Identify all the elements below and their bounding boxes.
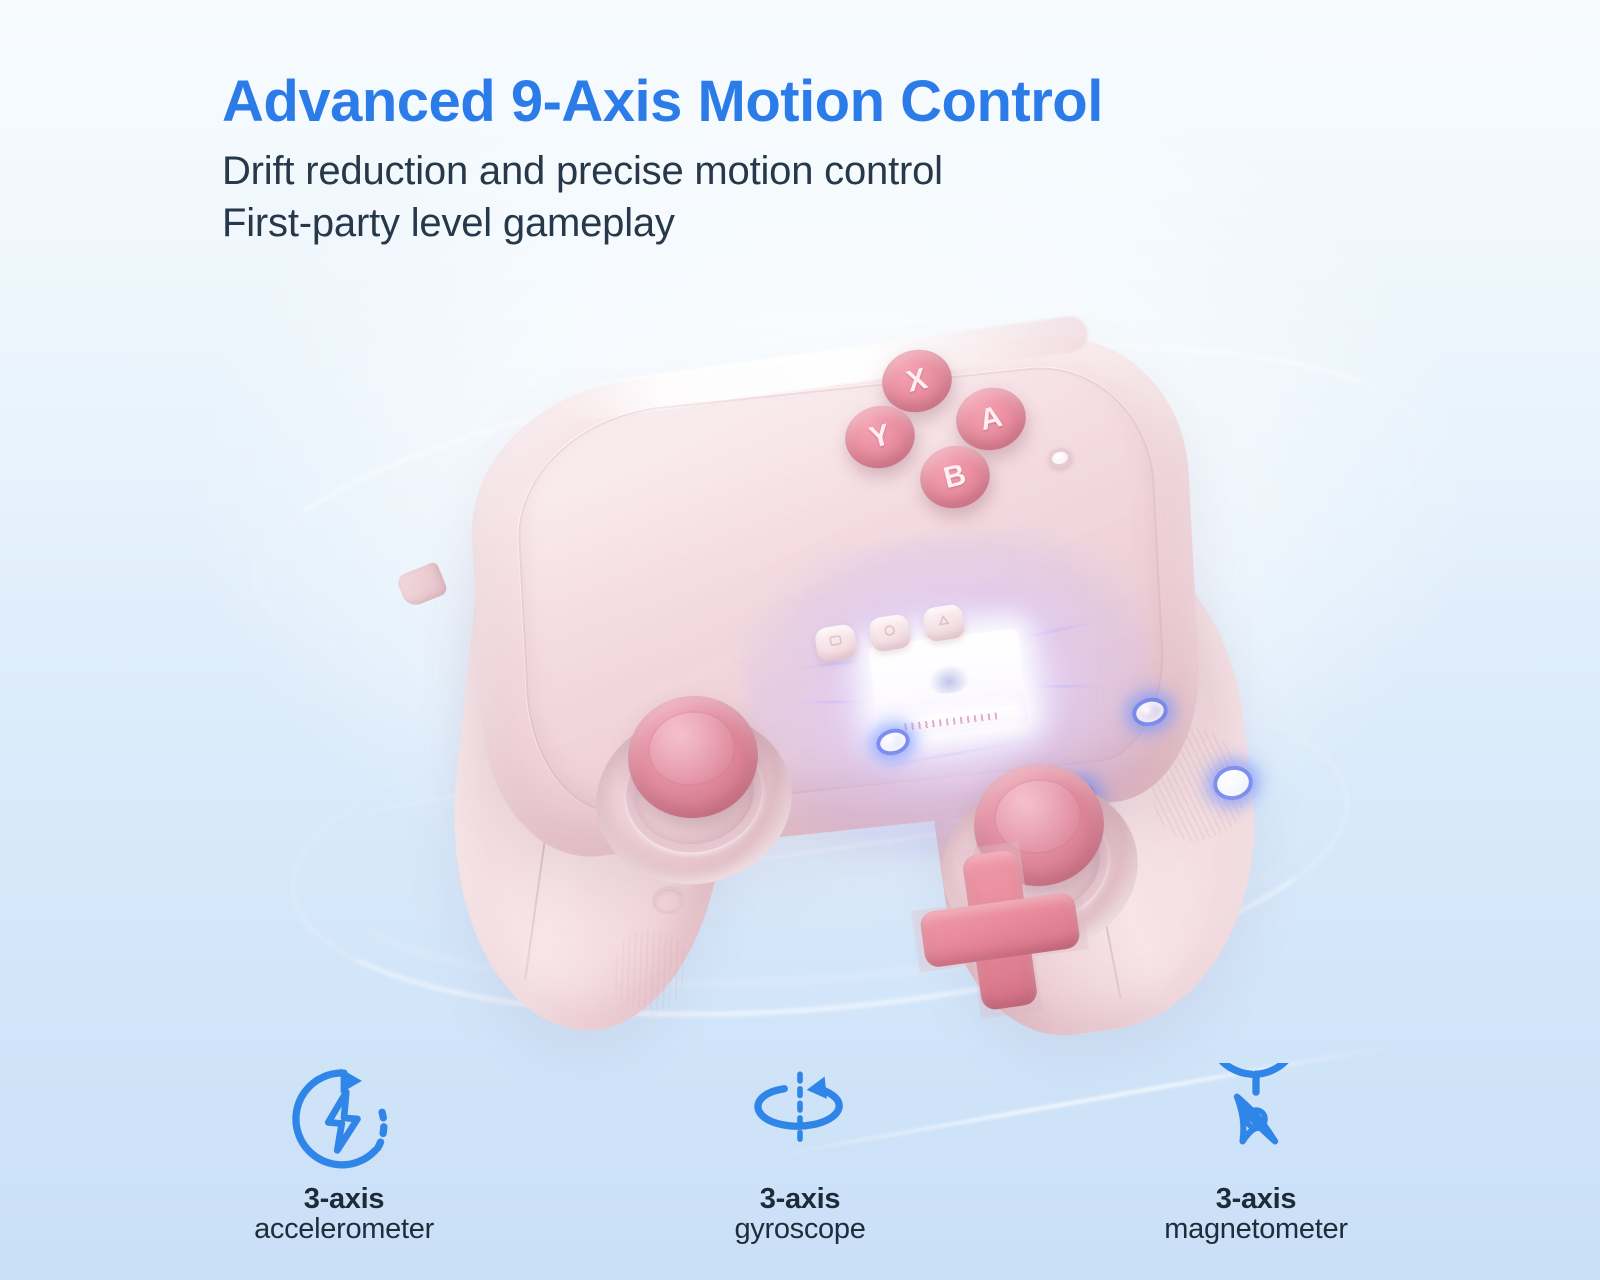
feature-list: 3-axis accelerometer 3-axis gyroscope (0, 1063, 1600, 1246)
controller-shoulder-button (395, 561, 449, 609)
feature-title: 3-axis (760, 1183, 840, 1216)
accelerometer-icon (283, 1063, 405, 1175)
circle-icon (882, 623, 899, 644)
controller-faceplate (511, 355, 1168, 822)
magnetometer-icon (1195, 1063, 1317, 1175)
dpad[interactable] (910, 840, 1091, 1021)
promo-stage: Advanced 9-Axis Motion Control Drift red… (0, 0, 1600, 1280)
triangle-icon (936, 613, 953, 634)
square-icon (828, 633, 845, 654)
subtitle-line-1: Drift reduction and precise motion contr… (222, 146, 1422, 197)
feature-title: 3-axis (1216, 1183, 1296, 1216)
dpad-horizontal-arm (919, 891, 1081, 968)
game-controller-image: X Y A B (360, 330, 1230, 1030)
feature-accelerometer: 3-axis accelerometer (219, 1063, 469, 1246)
feature-subtitle: gyroscope (734, 1213, 865, 1246)
feature-magnetometer: 3-axis magnetometer (1131, 1063, 1381, 1246)
feature-subtitle: accelerometer (254, 1213, 434, 1246)
feature-subtitle: magnetometer (1164, 1213, 1347, 1246)
subtitle-line-2: First-party level gameplay (222, 198, 1422, 249)
header: Advanced 9-Axis Motion Control Drift red… (222, 72, 1422, 249)
page-title: Advanced 9-Axis Motion Control (222, 72, 1422, 132)
feature-gyroscope: 3-axis gyroscope (675, 1063, 925, 1246)
feature-title: 3-axis (304, 1183, 384, 1216)
gyroscope-icon (739, 1063, 861, 1175)
subtitle: Drift reduction and precise motion contr… (222, 146, 1422, 248)
